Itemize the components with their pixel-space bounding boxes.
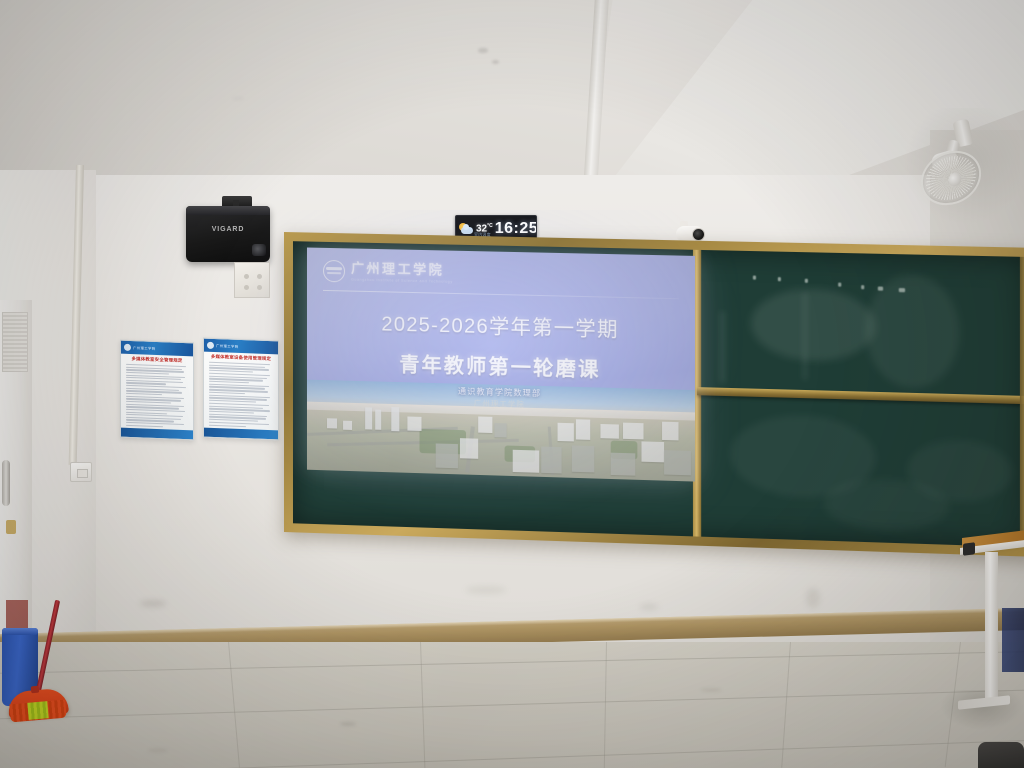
ceiling-stain xyxy=(478,48,488,53)
chalkboard-surface: 广州理工学院 Guangzhou Institute of Science an… xyxy=(293,241,1024,547)
chalk-mark-dot xyxy=(861,285,864,289)
photo-building xyxy=(478,416,492,433)
poster-body-text xyxy=(126,364,188,428)
chalk-mark-dot xyxy=(753,276,756,280)
tile-seam xyxy=(0,690,1024,720)
camera-lens-icon xyxy=(692,228,705,241)
degree-unit: °C xyxy=(487,223,493,229)
tile-seam xyxy=(0,651,1024,673)
university-name-cn: 广州理工学院 xyxy=(351,261,453,276)
chalk-mark-dot xyxy=(899,288,905,292)
chalk-residue xyxy=(865,274,959,389)
photo-building xyxy=(541,447,561,474)
poster-org-name: 广州理工学院 xyxy=(216,343,238,349)
poster-body-text xyxy=(209,362,273,428)
photo-building xyxy=(572,445,594,472)
photo-building xyxy=(436,443,458,468)
chair[interactable] xyxy=(978,742,1024,768)
slide-campus-photo: 通识教育学院数理部 广州理工学院 xyxy=(307,380,695,482)
broom-accent-bristles xyxy=(27,701,48,720)
desk-clamp xyxy=(963,542,975,556)
bucket-rim xyxy=(2,628,38,635)
projector-lens-icon xyxy=(252,244,266,256)
photo-building xyxy=(662,422,678,441)
photo-building xyxy=(558,423,574,442)
chalk-residue xyxy=(720,311,725,382)
door-handle[interactable] xyxy=(2,460,10,506)
desk-stored-item xyxy=(1002,608,1024,672)
wall-switch[interactable] xyxy=(70,462,92,482)
photo-campus-ground xyxy=(307,410,695,482)
photo-building xyxy=(513,450,539,473)
photo-building xyxy=(365,407,372,429)
electrical-junction-box xyxy=(234,262,270,298)
photo-building xyxy=(623,423,644,440)
chalk-residue xyxy=(751,288,876,363)
floor-mark xyxy=(148,748,168,753)
ceiling-stain xyxy=(492,60,499,64)
poster-equipment-regulations: 广州理工学院 多媒体教室设备使用管理规定 xyxy=(203,338,279,441)
chalk-mark-dot xyxy=(778,277,781,281)
chalkboard-frame: 广州理工学院 Guangzhou Institute of Science an… xyxy=(284,232,1024,557)
poster-logo-icon xyxy=(124,344,131,351)
slide-logo: 广州理工学院 Guangzhou Institute of Science an… xyxy=(323,260,453,285)
chalk-mark-dot xyxy=(838,283,841,287)
wall-smudge xyxy=(466,586,506,594)
projector-top xyxy=(186,206,270,215)
clock-time-value: 16:25 xyxy=(495,221,537,237)
projector: VIGARD xyxy=(186,206,270,262)
board-panel-rail-right xyxy=(1020,257,1024,548)
photo-building xyxy=(460,438,478,459)
photo-building xyxy=(343,421,352,430)
tile-seam xyxy=(0,740,1024,768)
photo-building xyxy=(391,407,399,431)
tile-seam xyxy=(420,642,425,768)
wall-smudge xyxy=(640,604,658,610)
chalkboard-assembly: 广州理工学院 Guangzhou Institute of Science an… xyxy=(284,232,1024,557)
floor-mark xyxy=(700,688,722,692)
desk-shadow xyxy=(940,690,1024,730)
chalk-mark-dot xyxy=(805,279,808,283)
university-emblem-icon xyxy=(323,260,345,283)
wall-smudge xyxy=(140,600,166,607)
chalk-mark-dot xyxy=(878,287,883,291)
ceiling-stain xyxy=(232,96,244,101)
photo-building xyxy=(494,423,506,437)
tile-seam xyxy=(228,642,240,768)
poster-header: 广州理工学院 xyxy=(204,339,278,355)
board-panel-divider xyxy=(697,387,1024,404)
photo-building xyxy=(407,416,421,430)
projected-slide: 广州理工学院 Guangzhou Institute of Science an… xyxy=(307,247,695,481)
poster-footer xyxy=(204,428,278,440)
chalk-residue xyxy=(803,293,807,380)
photo-building xyxy=(327,418,337,428)
desk-leg xyxy=(985,552,998,704)
sun-behind-cloud-icon xyxy=(459,223,474,236)
poster-logo-icon xyxy=(207,342,214,349)
poster-header: 广州理工学院 xyxy=(121,341,193,357)
photo-building xyxy=(576,419,590,440)
photo-building xyxy=(375,410,381,430)
poster-footer xyxy=(121,428,193,440)
wall-smudge xyxy=(806,588,820,608)
photo-building xyxy=(664,450,691,475)
door-lock[interactable] xyxy=(6,520,16,534)
floor-mark xyxy=(340,722,356,726)
poster-org-name: 广州理工学院 xyxy=(133,345,155,351)
tile-floor xyxy=(0,642,1024,768)
classroom-scene: VIGARD 32°C 室内温度 16:25 PM 广州理工学院 多媒体教室安全… xyxy=(0,0,1024,768)
projector-brand-label: VIGARD xyxy=(186,226,270,233)
broom-collar xyxy=(31,686,40,694)
photo-building xyxy=(600,424,618,439)
photo-building xyxy=(611,453,636,476)
poster-safety-regulations: 广州理工学院 多媒体教室安全管理规定 xyxy=(120,340,194,441)
door-vent-panel xyxy=(2,312,28,372)
photo-building xyxy=(641,441,664,462)
